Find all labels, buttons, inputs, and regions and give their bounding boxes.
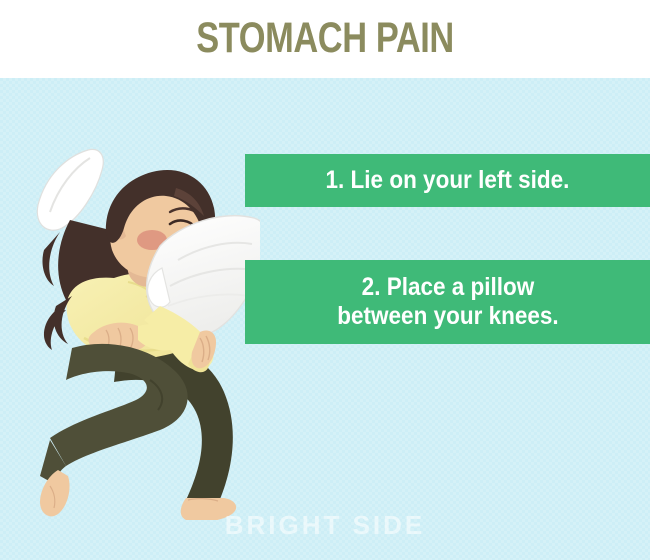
illustration-woman-lying-on-side xyxy=(10,100,260,520)
page-title: STOMACH PAIN xyxy=(196,17,454,60)
pillow-back-corner xyxy=(37,149,103,230)
infographic-page: STOMACH PAIN xyxy=(0,0,650,560)
step-bar-1: 1. Lie on your left side. xyxy=(245,154,650,207)
step-bar-2: 2. Place a pillow between your knees. xyxy=(245,260,650,344)
illustration-canvas: 1. Lie on your left side. 2. Place a pil… xyxy=(0,78,650,560)
step-2-text: 2. Place a pillow between your knees. xyxy=(330,273,566,331)
header-band: STOMACH PAIN xyxy=(0,0,650,78)
leg-front xyxy=(40,344,188,517)
step-1-text: 1. Lie on your left side. xyxy=(318,166,576,195)
